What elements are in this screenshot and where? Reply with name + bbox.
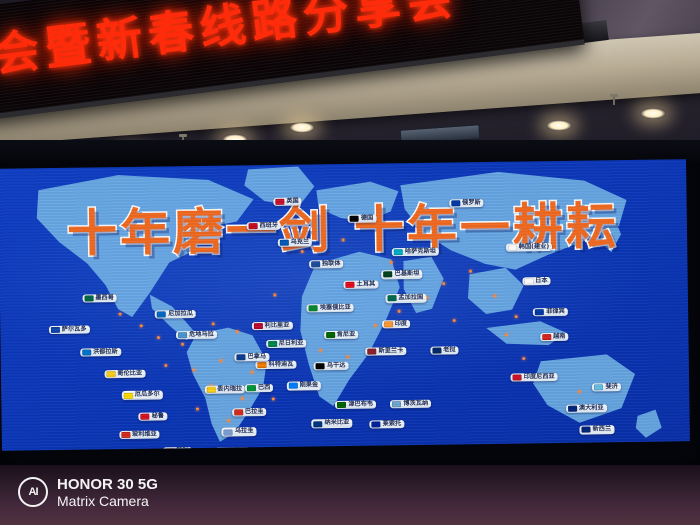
country-chip[interactable]: 土耳其 [344, 281, 379, 290]
country-flag-icon [106, 371, 115, 377]
video-wall-bezel [0, 140, 700, 162]
country-chip-label: 危地马拉 [189, 332, 214, 339]
country-chip-label: 玻利维亚 [132, 431, 157, 438]
country-chip[interactable]: 俄罗斯 [449, 199, 484, 208]
country-chip-label: 秘鲁 [152, 413, 164, 419]
country-flag-icon [542, 334, 551, 340]
country-flag-icon [224, 429, 233, 435]
country-chip-label: 尼日利亚 [279, 341, 304, 348]
country-chip[interactable]: 英国 [273, 197, 301, 206]
country-flag-icon [82, 349, 91, 355]
country-flag-icon [372, 421, 381, 427]
country-chip[interactable]: 西班牙 [246, 221, 281, 230]
country-flag-icon [289, 383, 298, 389]
country-chip[interactable]: 独联体 [309, 260, 344, 269]
map-marker-dot [164, 364, 167, 367]
country-chip-label: 韩国(建业) [519, 244, 549, 251]
country-chip[interactable]: 日本 [522, 277, 550, 286]
country-chip-label: 斐济 [605, 384, 617, 390]
country-chip[interactable]: 巴基斯坦 [382, 270, 423, 279]
country-chip[interactable]: 委内瑞拉 [204, 385, 245, 394]
map-marker-dot [398, 310, 401, 313]
country-chip[interactable]: 玻利维亚 [119, 430, 160, 439]
country-flag-icon [51, 327, 60, 333]
country-chip-label: 独联体 [322, 261, 341, 267]
country-flag-icon [247, 385, 256, 391]
country-flag-icon [337, 402, 346, 408]
country-chip[interactable]: 澳大利亚 [566, 404, 607, 413]
country-flag-icon [384, 272, 393, 278]
country-chip[interactable]: 老挝 [430, 346, 458, 355]
country-flag-icon [237, 354, 246, 360]
country-chip[interactable]: 乌拉圭 [222, 428, 257, 437]
country-chip[interactable]: 斐济 [592, 383, 620, 392]
country-chip-label: 俄罗斯 [462, 200, 481, 206]
map-marker-dot [219, 359, 222, 362]
country-flag-icon [316, 363, 325, 369]
country-chip-label: 墨西哥 [95, 295, 114, 301]
map-marker-dot [319, 349, 322, 352]
country-chip-label: 斯里兰卡 [378, 348, 403, 355]
country-flag-icon [84, 296, 93, 302]
country-chip-label: 土耳其 [357, 282, 376, 288]
watermark-device-name: HONOR 30 5G [57, 476, 158, 493]
country-flag-icon [254, 323, 263, 329]
map-marker-dot [453, 319, 456, 322]
country-chip-label: 哥伦比亚 [117, 371, 142, 378]
country-flag-icon [432, 347, 441, 353]
country-chip-label: 利比里亚 [265, 322, 290, 329]
screenshot-root: 会暨新春线路分享会 [0, 0, 700, 525]
country-flag-icon [387, 296, 396, 302]
map-marker-dot [505, 334, 508, 337]
map-marker-dot [212, 322, 215, 325]
country-chip-label: 厄瓜多尔 [135, 392, 160, 399]
country-flag-icon [513, 374, 522, 380]
country-chip-label: 巴拉圭 [245, 409, 264, 415]
country-chip-label: 英国 [286, 198, 298, 204]
country-flag-icon [384, 321, 393, 327]
map-marker-dot [522, 357, 525, 360]
country-chip[interactable]: 斯里兰卡 [365, 347, 406, 356]
country-flag-icon [535, 309, 544, 315]
map-marker-dot [192, 369, 195, 372]
country-chip-label: 越南 [553, 334, 565, 340]
country-chip-label: 乌干达 [327, 363, 346, 369]
country-chip-label: 津巴布韦 [348, 402, 373, 409]
country-chip[interactable]: 乌克兰 [278, 238, 313, 247]
watermark-camera-name: Matrix Camera [57, 493, 158, 509]
video-wall-screen: 十年磨一剑十年一耕耘 英国德国西班牙乌克兰俄罗斯独联体土耳其哈萨克斯坦韩国(建业… [0, 159, 690, 451]
country-chip[interactable]: 墨西哥 [82, 294, 117, 303]
country-chip-label: 萨尔瓦多 [62, 327, 87, 334]
map-marker-dot [578, 390, 581, 393]
country-chip[interactable]: 德国 [348, 214, 376, 223]
country-flag-icon [178, 332, 187, 338]
country-flag-icon [309, 305, 318, 311]
country-chip[interactable]: 韩国(建业) [506, 243, 553, 252]
country-chip-label: 西班牙 [259, 222, 278, 228]
country-chip[interactable]: 巴拉圭 [232, 408, 267, 417]
country-flag-icon [234, 409, 243, 415]
map-marker-dot [272, 398, 275, 401]
country-chip-label: 印度 [395, 321, 407, 327]
country-chip-label: 巴基斯坦 [395, 271, 420, 278]
country-chip-label: 科特迪瓦 [269, 362, 294, 369]
country-chip-label: 阿根廷 [228, 448, 247, 450]
country-chip-label: 埃塞俄比亚 [320, 305, 351, 312]
country-chip[interactable]: 孟加拉国 [385, 294, 426, 303]
country-chip[interactable]: 莱索托 [370, 420, 405, 429]
country-chip[interactable]: 巴拿马 [234, 353, 269, 362]
country-chip[interactable]: 阿根廷 [215, 447, 250, 450]
country-flag-icon [165, 448, 174, 451]
ceiling-downlight [289, 122, 315, 133]
country-chip-label: 巴拿马 [248, 354, 267, 360]
map-marker-dot [236, 330, 239, 333]
country-chip-label: 刚果金 [300, 383, 319, 389]
map-marker-dot [515, 315, 518, 318]
screen-headline: 十年磨一剑十年一耕耘 [0, 185, 687, 267]
country-chip[interactable]: 印度 [382, 320, 410, 329]
map-marker-dot [251, 371, 254, 374]
country-flag-icon [258, 362, 267, 368]
country-chip-label: 委内瑞拉 [217, 387, 242, 394]
country-flag-icon [157, 312, 166, 318]
country-chip[interactable]: 利比里亚 [252, 321, 293, 330]
country-flag-icon [568, 406, 577, 412]
map-marker-dot [181, 342, 184, 345]
country-chip-label: 乌拉圭 [235, 429, 254, 435]
country-chip-label: 孟加拉国 [398, 295, 423, 302]
country-flag-icon [141, 413, 150, 419]
led-video-wall: 十年磨一剑十年一耕耘 英国德国西班牙乌克兰俄罗斯独联体土耳其哈萨克斯坦韩国(建业… [0, 140, 700, 470]
country-flag-icon [275, 198, 284, 204]
country-chip[interactable]: 埃塞俄比亚 [307, 304, 354, 313]
country-chip-label: 德国 [361, 215, 373, 221]
country-chip-label: 乌克兰 [291, 239, 310, 245]
country-flag-icon [217, 449, 226, 451]
country-chip-label: 肯尼亚 [337, 331, 356, 337]
country-chip[interactable]: 秘鲁 [139, 412, 167, 421]
ai-logo-icon: AI [18, 477, 48, 507]
country-flag-icon [582, 427, 591, 433]
country-chip-label: 智利 [176, 448, 188, 451]
map-marker-dot [196, 407, 199, 410]
ceiling-downlight [640, 108, 666, 119]
camera-watermark: AI HONOR 30 5G Matrix Camera [18, 476, 158, 509]
country-flag-icon [594, 384, 603, 390]
map-marker-dot [494, 294, 497, 297]
country-chip[interactable]: 哈萨克斯坦 [392, 247, 439, 256]
country-chip[interactable]: 萨尔瓦多 [49, 326, 90, 335]
country-flag-icon [451, 200, 460, 206]
map-marker-dot [157, 336, 160, 339]
map-marker-dot [274, 293, 277, 296]
country-flag-icon [346, 282, 355, 288]
country-flag-icon [280, 239, 289, 245]
map-marker-dot [119, 312, 122, 315]
country-flag-icon [326, 332, 335, 338]
country-flag-icon [124, 392, 133, 398]
map-marker-dot [390, 260, 393, 263]
country-chip-label: 新西兰 [593, 426, 612, 432]
country-flag-icon [350, 216, 359, 222]
map-marker-dot [140, 325, 143, 328]
country-flag-icon [367, 348, 376, 354]
country-chip[interactable]: 纳米比亚 [311, 419, 352, 428]
country-flag-icon [248, 223, 257, 229]
country-chip[interactable]: 哥伦比亚 [104, 370, 145, 379]
country-chip[interactable]: 印度尼西亚 [511, 373, 558, 382]
country-chip-label: 老挝 [443, 347, 455, 353]
country-chip[interactable]: 智利 [163, 447, 191, 451]
sprinkler-head [613, 96, 615, 105]
country-chip[interactable]: 津巴布韦 [335, 401, 376, 410]
country-chip[interactable]: 菲律宾 [533, 308, 568, 317]
country-chip-label: 纳米比亚 [324, 420, 349, 427]
country-flag-icon [394, 249, 403, 255]
country-chip-label: 莱索托 [383, 421, 402, 427]
country-chip[interactable]: 越南 [540, 333, 568, 342]
country-flag-icon [508, 245, 517, 251]
country-chip[interactable]: 尼加拉瓜 [155, 310, 196, 319]
map-marker-dot [300, 250, 303, 253]
country-chip[interactable]: 尼日利亚 [266, 339, 307, 348]
country-chip[interactable]: 巴西 [245, 384, 273, 393]
country-flag-icon [206, 387, 215, 393]
country-chip-label: 哈萨克斯坦 [405, 248, 436, 255]
country-chip-label: 洪都拉斯 [93, 349, 118, 356]
country-chip[interactable]: 新西兰 [580, 425, 615, 434]
country-chip[interactable]: 洪都拉斯 [80, 348, 121, 357]
country-chip[interactable]: 厄瓜多尔 [122, 391, 163, 400]
country-chip-label: 日本 [535, 278, 547, 284]
country-chip-label: 印度尼西亚 [524, 374, 555, 381]
country-chip-label: 菲律宾 [546, 309, 565, 315]
country-chip-label: 尼加拉瓜 [168, 311, 193, 318]
map-marker-dot [227, 419, 230, 422]
country-flag-icon [524, 278, 533, 284]
ceiling-downlight [546, 120, 572, 131]
country-flag-icon [311, 261, 320, 267]
map-marker-dot [469, 269, 472, 272]
map-marker-dot [347, 356, 350, 359]
country-flag-icon [268, 341, 277, 347]
country-chip[interactable]: 刚果金 [287, 382, 322, 391]
country-chip[interactable]: 危地马拉 [176, 331, 217, 340]
country-chip-label: 博茨瓦纳 [403, 401, 428, 408]
country-chip[interactable]: 乌干达 [314, 361, 349, 370]
country-flag-icon [121, 432, 130, 438]
country-chip[interactable]: 科特迪瓦 [256, 361, 297, 370]
country-chip[interactable]: 博茨瓦纳 [390, 400, 431, 409]
country-flag-icon [392, 401, 401, 407]
map-marker-dot [241, 397, 244, 400]
map-marker-dot [342, 239, 345, 242]
country-flag-icon [313, 421, 322, 427]
map-marker-dot [374, 324, 377, 327]
country-chip[interactable]: 肯尼亚 [324, 330, 359, 339]
country-chip-label: 巴西 [258, 385, 270, 391]
country-chip-label: 澳大利亚 [579, 405, 604, 412]
map-marker-dot [442, 282, 445, 285]
